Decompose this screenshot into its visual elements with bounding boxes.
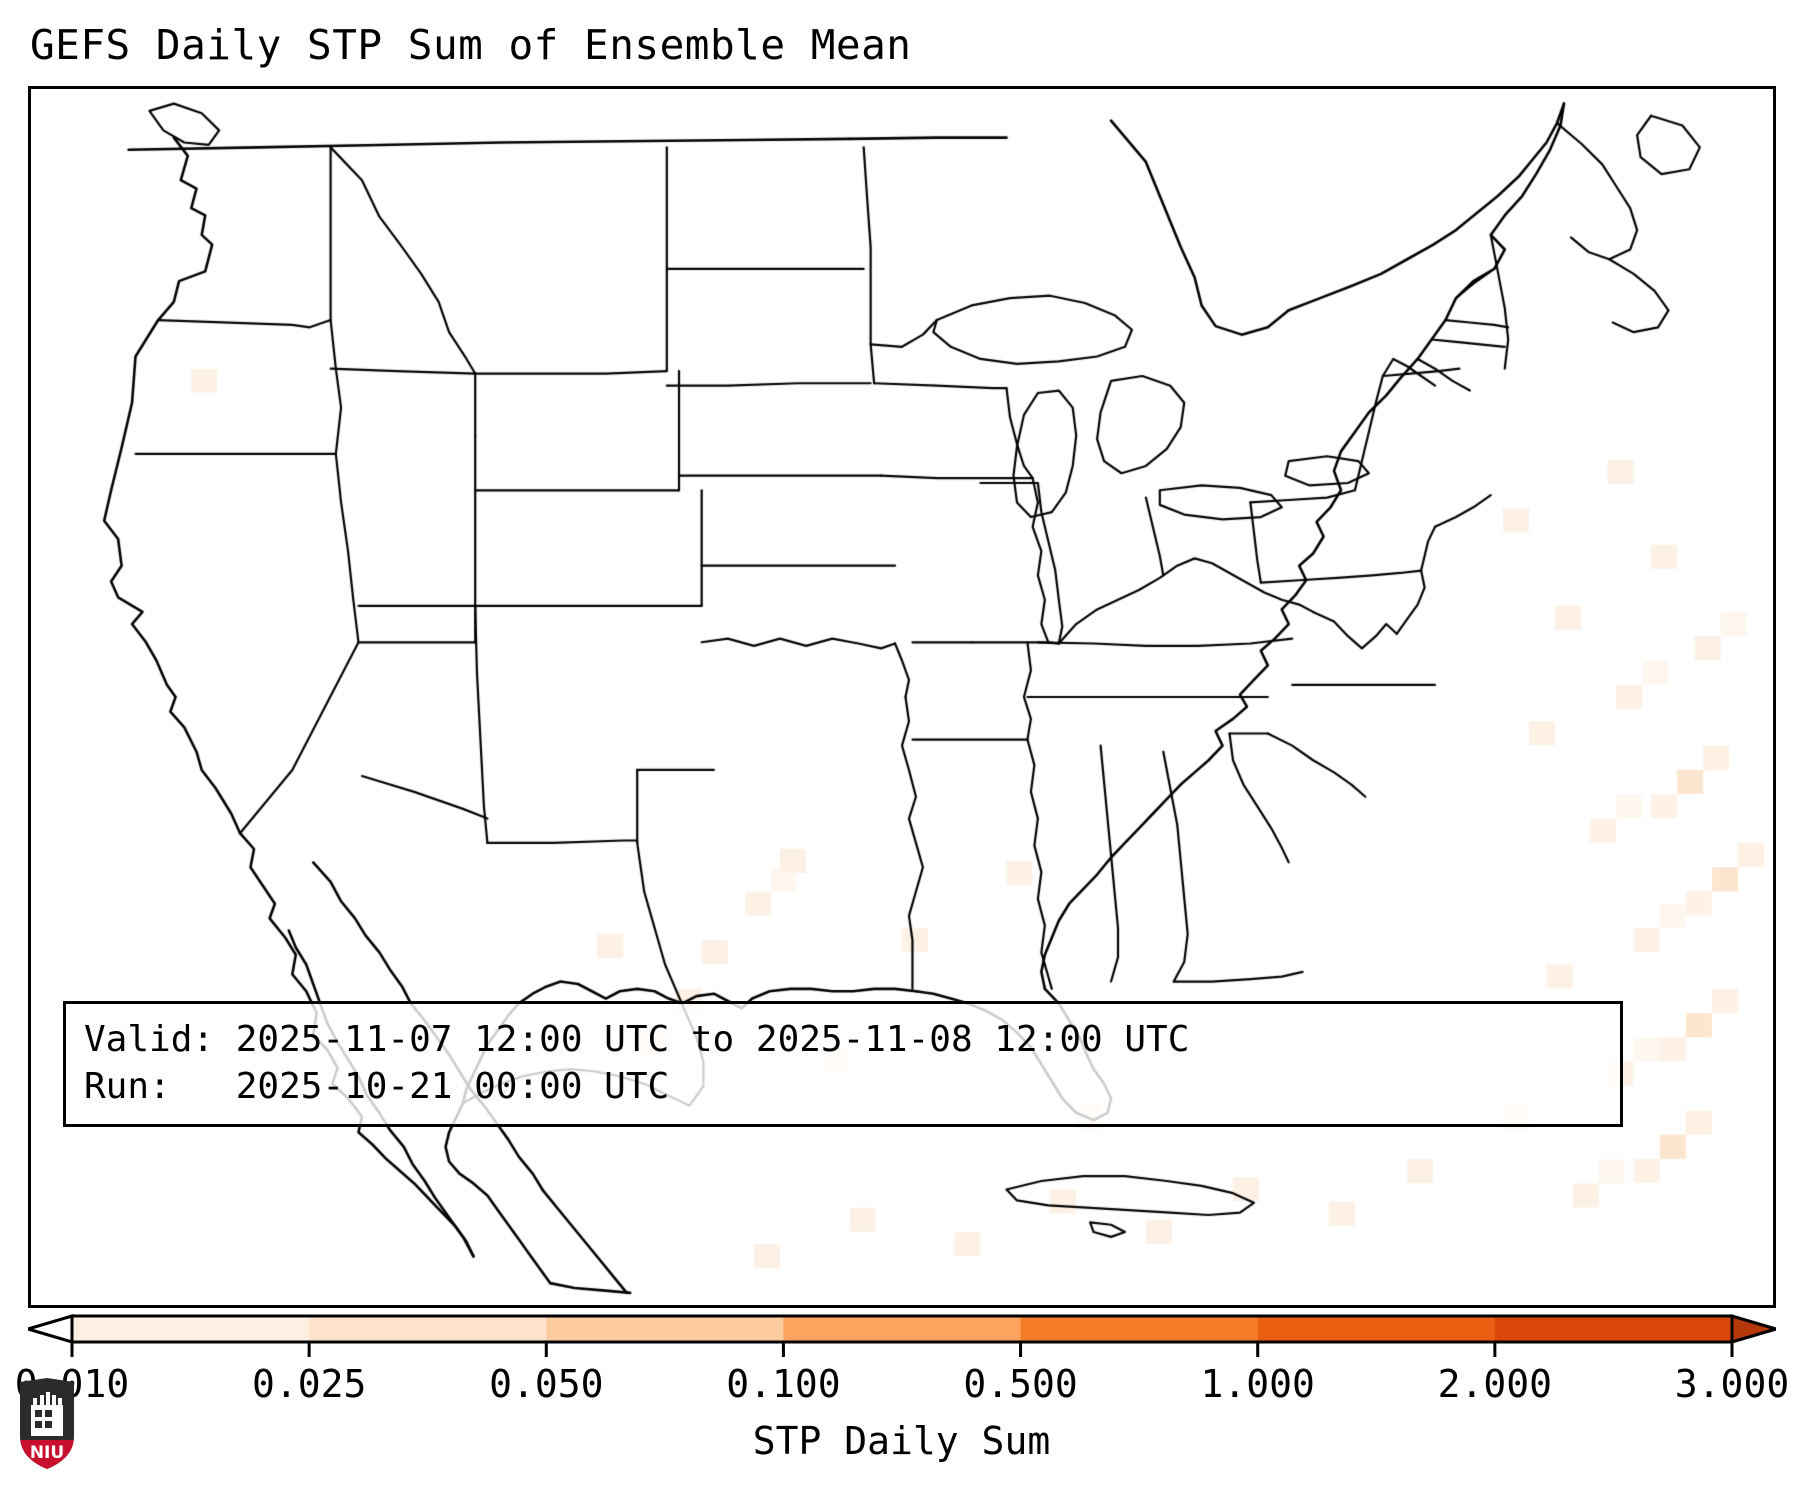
colorbar: 0.0100.0250.0500.1000.5001.0002.0003.000 bbox=[28, 1312, 1776, 1372]
run-time-line: Run: 2025-10-21 00:00 UTC bbox=[84, 1063, 1602, 1110]
weather-map-page: GEFS Daily STP Sum of Ensemble Mean Vali… bbox=[0, 0, 1803, 1500]
colorbar-tick-label: 0.500 bbox=[963, 1360, 1077, 1408]
niu-logo-text: NIU bbox=[30, 1443, 64, 1463]
colorbar-tick-label: 3.000 bbox=[1675, 1360, 1789, 1408]
colorbar-tick-labels: 0.0100.0250.0500.1000.5001.0002.0003.000 bbox=[28, 1360, 1776, 1412]
colorbar-tick-label: 1.000 bbox=[1201, 1360, 1315, 1408]
map-panel: Valid: 2025-11-07 12:00 UTC to 2025-11-0… bbox=[28, 86, 1776, 1308]
valid-time-line: Valid: 2025-11-07 12:00 UTC to 2025-11-0… bbox=[84, 1016, 1602, 1063]
forecast-info-box: Valid: 2025-11-07 12:00 UTC to 2025-11-0… bbox=[63, 1001, 1623, 1127]
colorbar-tick-label: 0.050 bbox=[489, 1360, 603, 1408]
colorbar-axis-label: STP Daily Sum bbox=[0, 1418, 1803, 1464]
page-title: GEFS Daily STP Sum of Ensemble Mean bbox=[30, 22, 911, 68]
colorbar-gradient bbox=[28, 1312, 1776, 1360]
colorbar-tick-label: 2.000 bbox=[1438, 1360, 1552, 1408]
colorbar-tick-label: 0.100 bbox=[726, 1360, 840, 1408]
niu-logo: NIU bbox=[16, 1378, 78, 1470]
colorbar-tick-label: 0.025 bbox=[252, 1360, 366, 1408]
